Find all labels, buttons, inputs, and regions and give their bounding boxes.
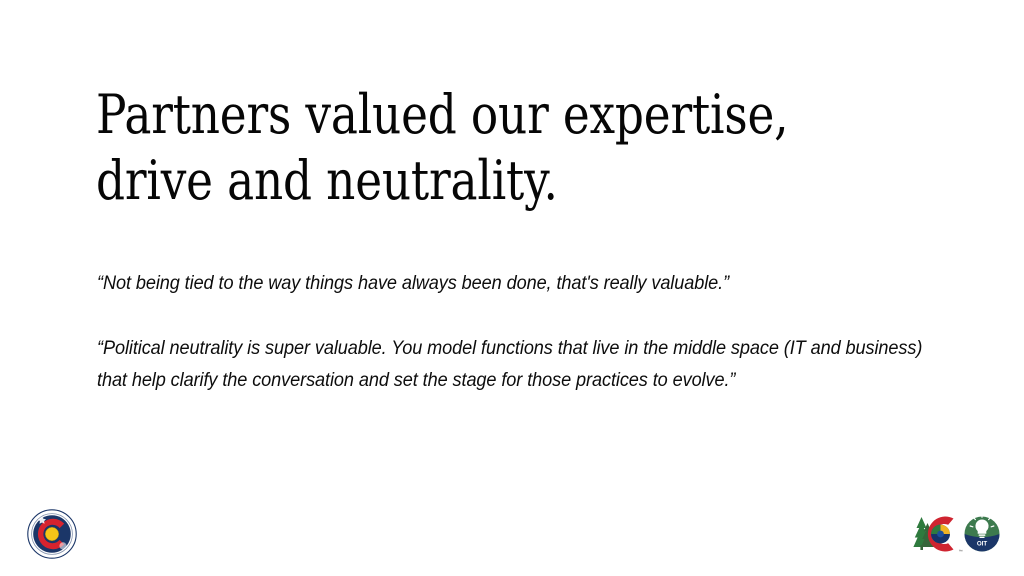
quote-block-2: “Political neutrality is super valuable.…	[97, 333, 939, 396]
oit-badge-label: OIT	[977, 541, 988, 548]
page-title: Partners valued our expertise, drive and…	[96, 82, 810, 214]
oit-badge-logo: OIT	[960, 509, 1004, 559]
colorado-state-seal-c-logo	[26, 508, 78, 560]
slide-canvas: Partners valued our expertise, drive and…	[0, 0, 1024, 576]
quote-block-1: “Not being tied to the way things have a…	[97, 268, 915, 300]
colorado-state-brand-logo: ™	[912, 509, 964, 559]
footer-logo-group: ™ OIT	[912, 509, 1004, 559]
